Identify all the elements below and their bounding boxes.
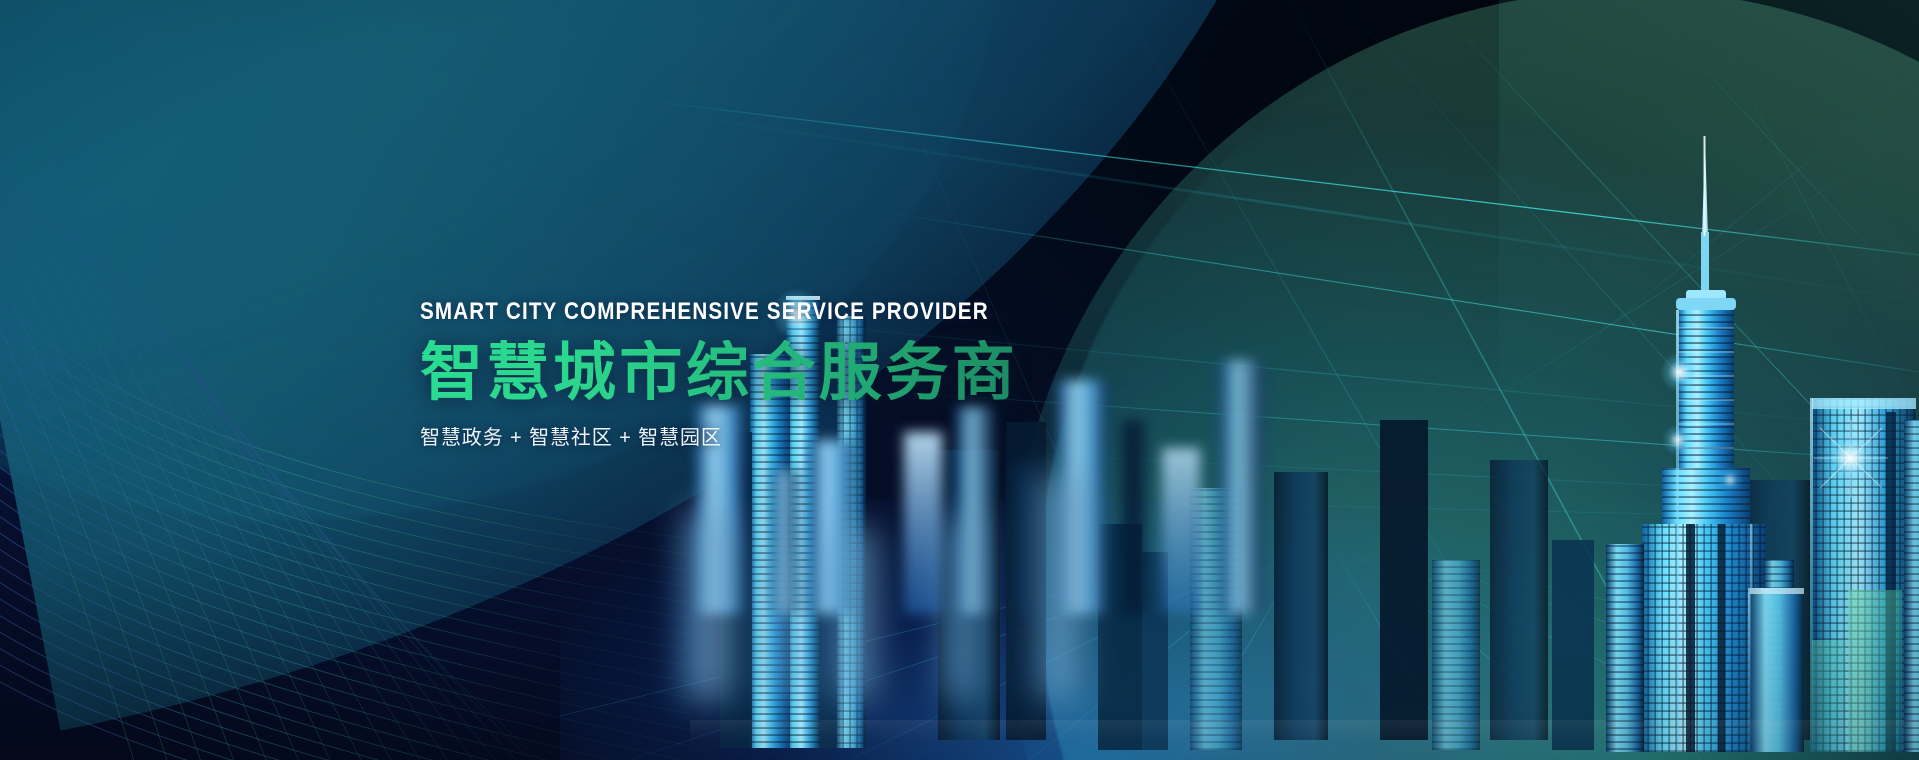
hero-text-block: SMART CITY COMPREHENSIVE SERVICE PROVIDE… (420, 300, 1180, 450)
hero-subline: 智慧政务 + 智慧社区 + 智慧园区 (420, 421, 1180, 450)
hero-eyebrow: SMART CITY COMPREHENSIVE SERVICE PROVIDE… (420, 300, 1074, 324)
smart-city-hero-banner: SMART CITY COMPREHENSIVE SERVICE PROVIDE… (0, 0, 1919, 760)
hero-headline: 智慧城市综合服务商 (420, 340, 1180, 407)
